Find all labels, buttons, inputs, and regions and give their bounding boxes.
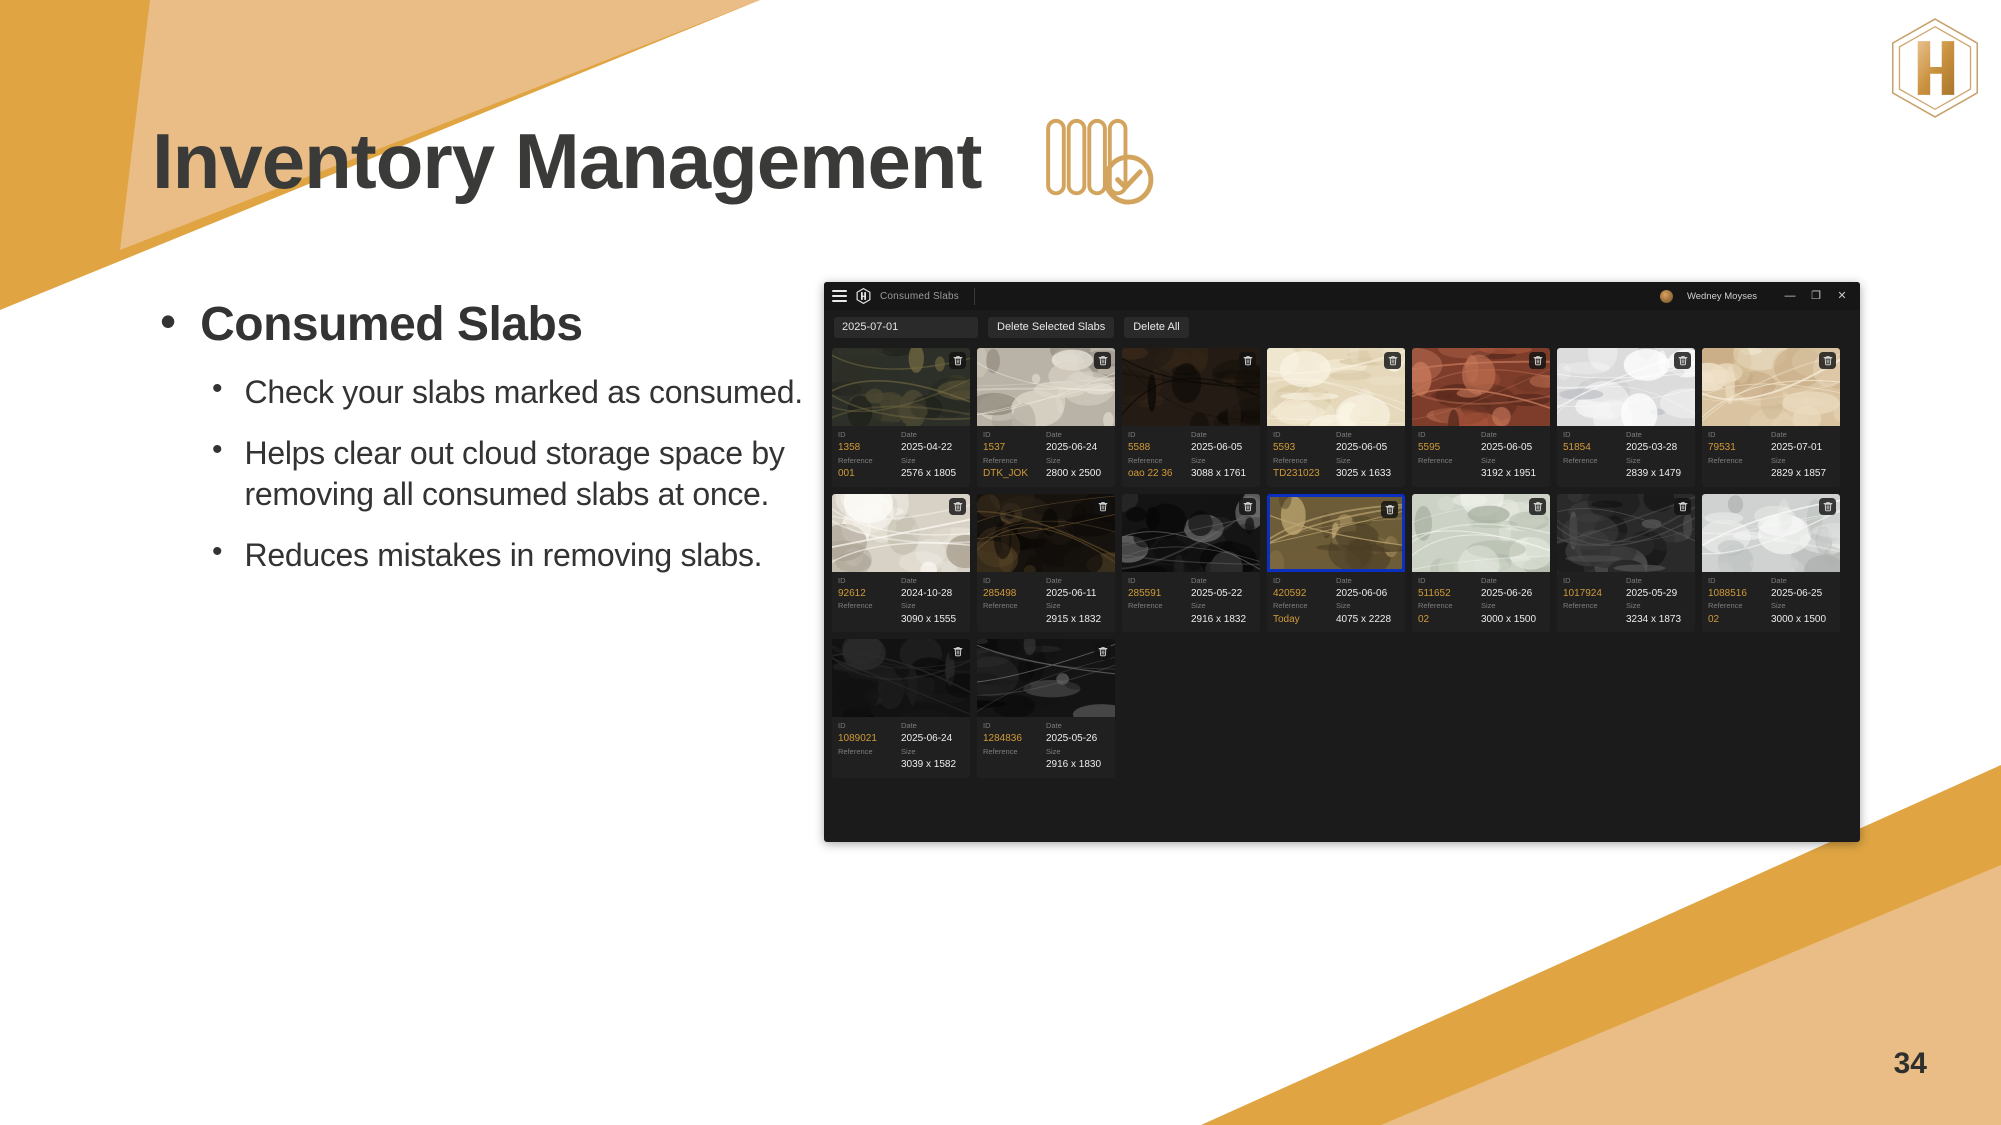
id-label: ID — [1418, 577, 1481, 585]
date-label: Date — [1191, 431, 1254, 439]
sub-bullet-row: • Check your slabs marked as consumed. — [212, 372, 820, 413]
slab-id-value: 285591 — [1128, 588, 1191, 600]
id-label: ID — [1273, 431, 1336, 439]
slab-reference-value: TD231023 — [1273, 468, 1336, 480]
reference-label: Reference — [838, 602, 901, 610]
slab-metadata: ID Date 5588 2025-06-05 Reference Size o… — [1122, 426, 1260, 487]
slab-id-value: 5588 — [1128, 442, 1191, 454]
trash-icon — [953, 355, 963, 366]
id-label: ID — [983, 431, 1046, 439]
slab-reference-value: oao 22 36 — [1128, 468, 1191, 480]
date-input[interactable] — [834, 317, 978, 338]
bullet-dot-icon: • — [212, 433, 223, 467]
slab-thumbnail[interactable] — [1122, 494, 1260, 572]
title-row: Inventory Management — [152, 115, 1160, 207]
bullet-dot-icon: • — [212, 372, 223, 406]
id-label: ID — [1128, 431, 1191, 439]
date-label: Date — [1481, 577, 1544, 585]
delete-slab-button[interactable] — [1094, 498, 1111, 515]
slab-id-value: 1284836 — [983, 733, 1046, 745]
slab-metadata: ID Date 1089021 2025-06-24 Reference Siz… — [832, 717, 970, 778]
slab-id-value: 1088516 — [1708, 588, 1771, 600]
delete-selected-slabs-button[interactable]: Delete Selected Slabs — [988, 317, 1114, 338]
delete-slab-button[interactable] — [1381, 501, 1398, 518]
date-label: Date — [1191, 577, 1254, 585]
date-label: Date — [1046, 577, 1109, 585]
delete-slab-button[interactable] — [1674, 352, 1691, 369]
slab-thumbnail[interactable] — [977, 639, 1115, 717]
id-label: ID — [1563, 577, 1626, 585]
slab-card[interactable]: ID Date 5588 2025-06-05 Reference Size o… — [1122, 348, 1260, 487]
slab-metadata: ID Date 420592 2025-06-06 Reference Size… — [1267, 572, 1405, 633]
date-label: Date — [1336, 431, 1399, 439]
slab-metadata: ID Date 92612 2024-10-28 Reference Size … — [832, 572, 970, 633]
slab-id-value: 1537 — [983, 442, 1046, 454]
avatar[interactable] — [1660, 290, 1673, 303]
slab-card[interactable]: ID Date 5593 2025-06-05 Reference Size T… — [1267, 348, 1405, 487]
slab-id-value: 92612 — [838, 588, 901, 600]
slab-size-value: 2800 x 2500 — [1046, 468, 1109, 480]
sub-bullet-row: • Reduces mistakes in removing slabs. — [212, 535, 820, 576]
sub-bullet-text: Reduces mistakes in removing slabs. — [245, 535, 763, 576]
slab-card[interactable]: ID Date 1537 2025-06-24 Reference Size D… — [977, 348, 1115, 487]
reference-label: Reference — [1708, 602, 1771, 610]
date-label: Date — [901, 431, 964, 439]
slab-metadata: ID Date 1284836 2025-05-26 Reference Siz… — [977, 717, 1115, 778]
slab-thumbnail[interactable] — [1557, 494, 1695, 572]
slab-reference-value: 02 — [1708, 614, 1771, 626]
delete-slab-button[interactable] — [949, 352, 966, 369]
sub-bullet-text: Helps clear out cloud storage space by r… — [245, 433, 820, 515]
slab-thumbnail[interactable] — [1412, 494, 1550, 572]
date-label: Date — [1046, 722, 1109, 730]
reference-label: Reference — [1418, 602, 1481, 610]
date-label: Date — [1481, 431, 1544, 439]
reference-label: Reference — [1128, 602, 1191, 610]
date-label: Date — [1771, 431, 1834, 439]
trash-icon — [1533, 355, 1543, 366]
delete-slab-button[interactable] — [1239, 498, 1256, 515]
slab-date-value: 2025-06-05 — [1336, 442, 1399, 454]
slab-reference-value: 001 — [838, 468, 901, 480]
slab-date-value: 2025-04-22 — [901, 442, 964, 454]
slab-card[interactable]: ID Date 1284836 2025-05-26 Reference Siz… — [977, 639, 1115, 778]
slab-id-value: 5593 — [1273, 442, 1336, 454]
id-label: ID — [1128, 577, 1191, 585]
slab-date-value: 2025-06-06 — [1336, 588, 1399, 600]
id-label: ID — [1708, 431, 1771, 439]
trash-icon — [1098, 355, 1108, 366]
reference-label: Reference — [1273, 602, 1336, 610]
trash-icon — [1385, 504, 1395, 515]
reference-label: Reference — [1128, 457, 1191, 465]
slab-metadata: ID Date 51854 2025-03-28 Reference Size … — [1557, 426, 1695, 487]
delete-slab-button[interactable] — [1529, 498, 1546, 515]
slab-metadata: ID Date 1088516 2025-06-25 Reference Siz… — [1702, 572, 1840, 633]
slab-size-value: 2916 x 1832 — [1191, 614, 1254, 626]
slab-id-value: 1358 — [838, 442, 901, 454]
reference-label: Reference — [1418, 457, 1481, 465]
size-label: Size — [901, 457, 964, 465]
slab-card[interactable]: ID Date 511652 2025-06-26 Reference Size… — [1412, 494, 1550, 633]
slab-grid-row: ID Date 1089021 2025-06-24 Reference Siz… — [832, 639, 1852, 778]
slab-id-value: 420592 — [1273, 588, 1336, 600]
slab-metadata: ID Date 1358 2025-04-22 Reference Size 0… — [832, 426, 970, 487]
reference-label: Reference — [1563, 602, 1626, 610]
trash-icon — [953, 646, 963, 657]
slab-metadata: ID Date 79531 2025-07-01 Reference Size … — [1702, 426, 1840, 487]
slab-reference-value: Today — [1273, 614, 1336, 626]
app-titlebar: Consumed Slabs Wedney Moyses — ❐ ✕ — [824, 282, 1860, 310]
slab-card[interactable]: ID Date 1358 2025-04-22 Reference Size 0… — [832, 348, 970, 487]
date-label: Date — [1336, 577, 1399, 585]
id-label: ID — [1563, 431, 1626, 439]
slab-date-value: 2025-06-26 — [1481, 588, 1544, 600]
reference-label: Reference — [1273, 457, 1336, 465]
id-label: ID — [1273, 577, 1336, 585]
slab-thumbnail[interactable] — [832, 348, 970, 426]
size-label: Size — [1191, 457, 1254, 465]
slab-thumbnail[interactable] — [1122, 348, 1260, 426]
slab-size-value: 4075 x 2228 — [1336, 614, 1399, 626]
slab-size-value: 2915 x 1832 — [1046, 614, 1109, 626]
hexagon-h-logo — [856, 288, 871, 304]
slab-card[interactable]: ID Date 285498 2025-06-11 Reference Size… — [977, 494, 1115, 633]
slab-id-value: 285498 — [983, 588, 1046, 600]
delete-slab-button[interactable] — [949, 643, 966, 660]
slab-date-value: 2025-05-22 — [1191, 588, 1254, 600]
slab-date-value: 2025-06-24 — [1046, 442, 1109, 454]
trash-icon — [1678, 501, 1688, 512]
delete-slab-button[interactable] — [949, 498, 966, 515]
size-label: Size — [1626, 602, 1689, 610]
slab-date-value: 2025-06-05 — [1481, 442, 1544, 454]
trash-icon — [1823, 355, 1833, 366]
slab-thumbnail[interactable] — [1702, 348, 1840, 426]
bottom-right-light-triangle — [1381, 865, 2001, 1125]
slab-id-value: 5595 — [1418, 442, 1481, 454]
slab-thumbnail[interactable] — [977, 348, 1115, 426]
slab-size-value: 2576 x 1805 — [901, 468, 964, 480]
delete-slab-button[interactable] — [1529, 352, 1546, 369]
delete-slab-button[interactable] — [1094, 643, 1111, 660]
date-label: Date — [1046, 431, 1109, 439]
slab-metadata: ID Date 5593 2025-06-05 Reference Size T… — [1267, 426, 1405, 487]
slab-thumbnail[interactable] — [1412, 348, 1550, 426]
slab-date-value: 2024-10-28 — [901, 588, 964, 600]
slab-metadata: ID Date 1537 2025-06-24 Reference Size D… — [977, 426, 1115, 487]
reference-label: Reference — [983, 457, 1046, 465]
minimize-icon[interactable]: — — [1784, 291, 1796, 302]
slab-thumbnail[interactable] — [1267, 494, 1405, 572]
slab-card[interactable]: ID Date 1088516 2025-06-25 Reference Siz… — [1702, 494, 1840, 633]
size-label: Size — [1771, 457, 1834, 465]
slab-thumbnail[interactable] — [832, 494, 970, 572]
slab-size-value: 3039 x 1582 — [901, 759, 964, 771]
reference-label: Reference — [838, 457, 901, 465]
slab-id-value: 79531 — [1708, 442, 1771, 454]
close-icon[interactable]: ✕ — [1836, 291, 1848, 302]
size-label: Size — [1336, 457, 1399, 465]
reference-label: Reference — [1708, 457, 1771, 465]
page-number: 34 — [1894, 1047, 1927, 1081]
slab-card[interactable]: ID Date 79531 2025-07-01 Reference Size … — [1702, 348, 1840, 487]
slab-size-value: 2829 x 1857 — [1771, 468, 1834, 480]
app-window-title: Consumed Slabs — [880, 291, 959, 302]
trash-icon — [1388, 355, 1398, 366]
trash-icon — [1678, 355, 1688, 366]
sub-bullet-row: • Helps clear out cloud storage space by… — [212, 433, 820, 515]
slab-metadata: ID Date 1017924 2025-05-29 Reference Siz… — [1557, 572, 1695, 633]
trash-icon — [1243, 501, 1253, 512]
bullet-dot-icon: • — [160, 300, 176, 342]
size-label: Size — [1046, 457, 1109, 465]
trash-icon — [1823, 501, 1833, 512]
hexagon-h-logo — [1887, 16, 1983, 120]
slab-size-value: 3088 x 1761 — [1191, 468, 1254, 480]
size-label: Size — [1626, 457, 1689, 465]
size-label: Size — [1046, 602, 1109, 610]
slab-id-value: 1089021 — [838, 733, 901, 745]
trash-icon — [1533, 501, 1543, 512]
slab-metadata: ID Date 511652 2025-06-26 Reference Size… — [1412, 572, 1550, 633]
slab-id-value: 1017924 — [1563, 588, 1626, 600]
slab-thumbnail[interactable] — [977, 494, 1115, 572]
size-label: Size — [901, 748, 964, 756]
bullet-heading: Consumed Slabs — [200, 300, 582, 350]
size-label: Size — [1771, 602, 1834, 610]
slab-size-value: 3090 x 1555 — [901, 614, 964, 626]
date-label: Date — [1626, 577, 1689, 585]
slab-size-value: 3000 x 1500 — [1771, 614, 1834, 626]
slab-size-value: 2839 x 1479 — [1626, 468, 1689, 480]
slab-thumbnail[interactable] — [832, 639, 970, 717]
sub-bullet-text: Check your slabs marked as consumed. — [245, 372, 803, 413]
app-window: Consumed Slabs Wedney Moyses — ❐ ✕ Delet… — [824, 282, 1860, 842]
trash-icon — [1098, 646, 1108, 657]
slab-thumbnail[interactable] — [1702, 494, 1840, 572]
delete-all-button[interactable]: Delete All — [1124, 317, 1188, 338]
id-label: ID — [1708, 577, 1771, 585]
delete-slab-button[interactable] — [1819, 352, 1836, 369]
slab-date-value: 2025-06-24 — [901, 733, 964, 745]
bullet-list: • Consumed Slabs • Check your slabs mark… — [160, 300, 820, 596]
date-label: Date — [901, 722, 964, 730]
window-controls: — ❐ ✕ — [1784, 291, 1848, 302]
page-title: Inventory Management — [152, 122, 982, 200]
titlebar-divider — [974, 288, 975, 305]
delete-slab-button[interactable] — [1384, 352, 1401, 369]
slab-metadata: ID Date 285591 2025-05-22 Reference Size… — [1122, 572, 1260, 633]
size-label: Size — [1191, 602, 1254, 610]
id-label: ID — [838, 722, 901, 730]
slab-metadata: ID Date 5595 2025-06-05 Reference Size -… — [1412, 426, 1550, 487]
slab-id-value: 51854 — [1563, 442, 1626, 454]
slab-thumbnail[interactable] — [1557, 348, 1695, 426]
slab-id-value: 511652 — [1418, 588, 1481, 600]
slab-size-value: 3000 x 1500 — [1481, 614, 1544, 626]
id-label: ID — [983, 577, 1046, 585]
id-label: ID — [838, 577, 901, 585]
slab-grid-row: ID Date 1358 2025-04-22 Reference Size 0… — [832, 348, 1852, 487]
slab-date-value: 2025-06-11 — [1046, 588, 1109, 600]
maximize-icon[interactable]: ❐ — [1810, 291, 1822, 302]
slab-reference-value: 02 — [1418, 614, 1481, 626]
slab-size-value: 3234 x 1873 — [1626, 614, 1689, 626]
delete-slab-button[interactable] — [1674, 498, 1691, 515]
slab-size-value: 3025 x 1633 — [1336, 468, 1399, 480]
slab-date-value: 2025-06-05 — [1191, 442, 1254, 454]
delete-slab-button[interactable] — [1094, 352, 1111, 369]
slab-size-value: 3192 x 1951 — [1481, 468, 1544, 480]
slab-card[interactable]: ID Date 92612 2024-10-28 Reference Size … — [832, 494, 970, 633]
slab-card[interactable]: ID Date 1017924 2025-05-29 Reference Siz… — [1557, 494, 1695, 633]
slab-date-value: 2025-05-29 — [1626, 588, 1689, 600]
slab-card[interactable]: ID Date 420592 2025-06-06 Reference Size… — [1267, 494, 1405, 633]
size-label: Size — [1046, 748, 1109, 756]
slab-metadata: ID Date 285498 2025-06-11 Reference Size… — [977, 572, 1115, 633]
date-label: Date — [1771, 577, 1834, 585]
slab-grid-row: ID Date 92612 2024-10-28 Reference Size … — [832, 494, 1852, 633]
slab-card[interactable]: ID Date 5595 2025-06-05 Reference Size -… — [1412, 348, 1550, 487]
bullet-dot-icon: • — [212, 535, 223, 569]
date-label: Date — [901, 577, 964, 585]
trash-icon — [1243, 355, 1253, 366]
trash-icon — [1098, 501, 1108, 512]
slab-grid: ID Date 1358 2025-04-22 Reference Size 0… — [824, 344, 1860, 793]
id-label: ID — [1418, 431, 1481, 439]
slabs-check-icon — [1042, 115, 1160, 207]
slab-date-value: 2025-05-26 — [1046, 733, 1109, 745]
slab-card[interactable]: ID Date 51854 2025-03-28 Reference Size … — [1557, 348, 1695, 487]
slab-date-value: 2025-06-25 — [1771, 588, 1834, 600]
slab-thumbnail[interactable] — [1267, 348, 1405, 426]
slab-date-value: 2025-03-28 — [1626, 442, 1689, 454]
reference-label: Reference — [983, 748, 1046, 756]
hamburger-icon[interactable] — [832, 290, 847, 302]
bullet-heading-row: • Consumed Slabs — [160, 300, 820, 350]
trash-icon — [953, 501, 963, 512]
slab-size-value: 2916 x 1830 — [1046, 759, 1109, 771]
user-name: Wedney Moyses — [1687, 291, 1757, 302]
reference-label: Reference — [838, 748, 901, 756]
id-label: ID — [983, 722, 1046, 730]
size-label: Size — [901, 602, 964, 610]
reference-label: Reference — [1563, 457, 1626, 465]
reference-label: Reference — [983, 602, 1046, 610]
delete-slab-button[interactable] — [1239, 352, 1256, 369]
size-label: Size — [1336, 602, 1399, 610]
date-label: Date — [1626, 431, 1689, 439]
slab-reference-value: DTK_JOK — [983, 468, 1046, 480]
slab-card[interactable]: ID Date 285591 2025-05-22 Reference Size… — [1122, 494, 1260, 633]
size-label: Size — [1481, 602, 1544, 610]
slab-date-value: 2025-07-01 — [1771, 442, 1834, 454]
delete-slab-button[interactable] — [1819, 498, 1836, 515]
id-label: ID — [838, 431, 901, 439]
slab-card[interactable]: ID Date 1089021 2025-06-24 Reference Siz… — [832, 639, 970, 778]
app-toolbar: Delete Selected Slabs Delete All — [824, 310, 1860, 344]
size-label: Size — [1481, 457, 1544, 465]
